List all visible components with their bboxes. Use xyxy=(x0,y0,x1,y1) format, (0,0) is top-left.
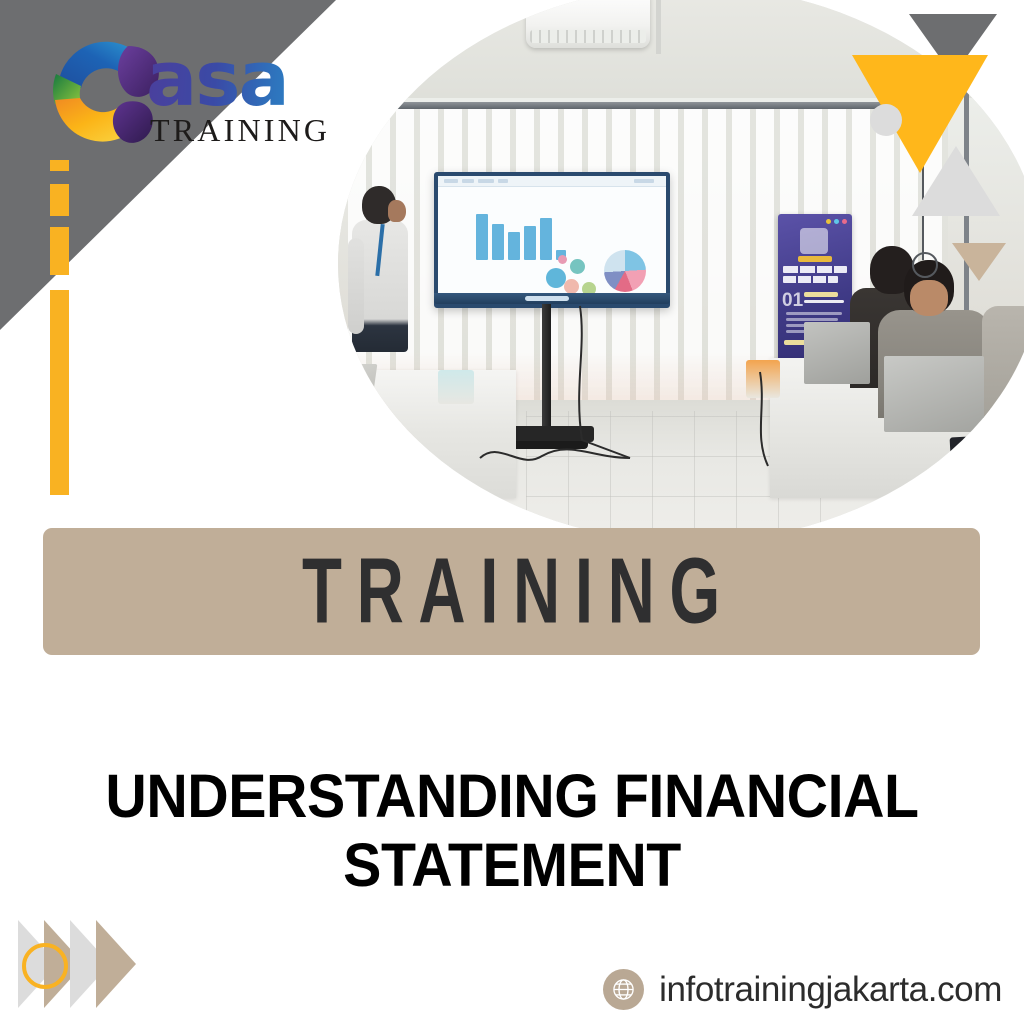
logo-name: asa xyxy=(146,48,330,110)
chart-bar xyxy=(492,224,504,260)
participant-3-face xyxy=(910,280,948,316)
training-banner-label: TRAINING xyxy=(288,538,735,644)
chart-bar xyxy=(524,226,536,260)
poster-canvas: 01 02 xyxy=(0,0,1024,1024)
dash-long xyxy=(50,227,69,275)
participant-4-body xyxy=(982,306,1024,418)
laptop-2 xyxy=(804,322,870,384)
globe-icon xyxy=(603,969,644,1010)
dash-medium xyxy=(50,184,69,216)
page-title: UNDERSTANDING FINANCIAL STATEMENT xyxy=(87,762,937,900)
dash-short xyxy=(50,160,69,171)
presenter-face xyxy=(388,200,406,222)
brand-logo[interactable]: asa TRAINING xyxy=(34,16,334,162)
dash-extra-long xyxy=(50,290,69,495)
presentation-screen xyxy=(434,172,670,308)
website-url: infotrainingjakarta.com xyxy=(659,970,1002,1010)
page-title-line-1: UNDERSTANDING FINANCIAL xyxy=(87,762,937,831)
screen-stand xyxy=(542,304,551,432)
ac-pipe xyxy=(656,0,661,54)
bubble-point xyxy=(570,259,585,274)
phone-on-table xyxy=(950,434,1009,455)
tan-down-triangle xyxy=(952,243,1006,281)
tissue-box-left xyxy=(438,370,474,404)
pie-chart xyxy=(604,250,646,292)
laptop-1 xyxy=(330,364,377,412)
logo-subtitle: TRAINING xyxy=(150,112,330,149)
chevron-4 xyxy=(96,920,136,1008)
tissue-box-right xyxy=(746,360,780,398)
bubble-point xyxy=(558,255,567,264)
chart-bar xyxy=(476,214,488,260)
training-banner: TRAINING xyxy=(43,528,980,655)
logo-wordmark: asa TRAINING xyxy=(146,48,330,149)
laptop-3 xyxy=(884,356,984,432)
circle-outline-icon xyxy=(912,252,938,278)
participant-table-left xyxy=(330,370,516,498)
bubble-point xyxy=(564,279,579,294)
gray-circle xyxy=(870,104,902,136)
screen-bottom-bezel xyxy=(434,293,670,304)
chart-bar xyxy=(540,218,552,260)
screen-toolbar xyxy=(438,176,666,187)
door xyxy=(330,178,338,316)
bubble-point xyxy=(546,268,566,288)
chevron-group xyxy=(18,920,198,1012)
chart-bar xyxy=(508,232,520,260)
air-conditioner xyxy=(526,0,650,48)
page-title-line-2: STATEMENT xyxy=(87,831,937,900)
light-gray-up-triangle xyxy=(912,146,1000,216)
presenter-arm xyxy=(348,238,364,334)
website-footer[interactable]: infotrainingjakarta.com xyxy=(603,969,1002,1010)
yellow-ring-icon xyxy=(22,943,68,989)
